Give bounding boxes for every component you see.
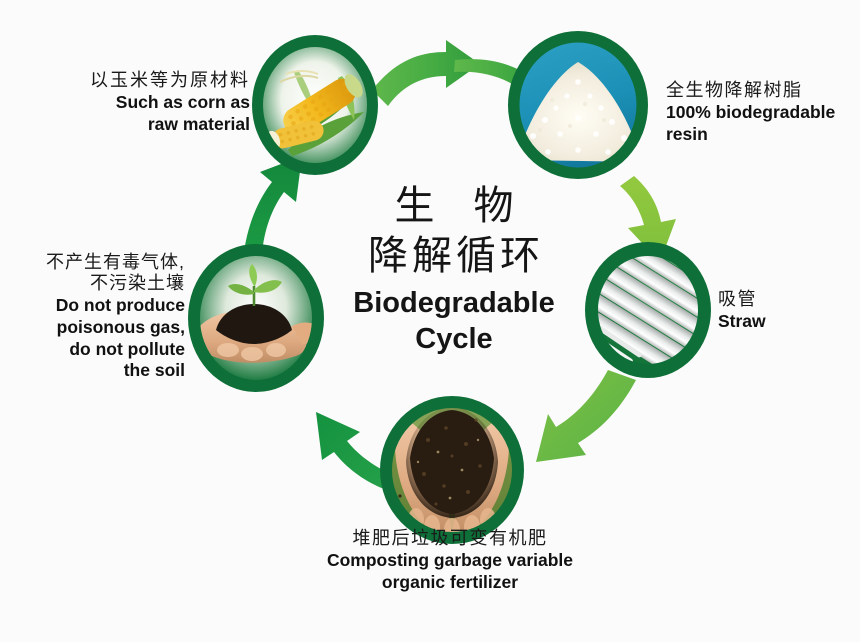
- label-compost-en-line1: Composting garbage variable: [280, 550, 620, 571]
- arrow-straw-to-compost: [536, 370, 636, 462]
- node-straw[interactable]: [576, 222, 741, 383]
- center-title: 生 物 降解循环 Biodegradable Cycle: [318, 182, 590, 357]
- label-soil-en-line2: poisonous gas,: [10, 317, 185, 338]
- label-corn: 以玉米等为原材料 Such as corn as raw material: [50, 70, 250, 135]
- title-cn-line2: 降解循环: [318, 231, 590, 281]
- node-resin[interactable]: [508, 31, 650, 180]
- label-straw: 吸管 Straw: [718, 289, 838, 332]
- node-corn[interactable]: [252, 35, 378, 175]
- label-resin-en-line1: 100% biodegradable: [666, 102, 846, 123]
- label-soil-cn-line1: 不产生有毒气体,: [10, 252, 185, 273]
- label-resin-cn: 全生物降解树脂: [666, 80, 846, 101]
- label-soil-en-line3: do not pollute: [10, 339, 185, 360]
- label-corn-cn: 以玉米等为原材料: [50, 70, 250, 91]
- label-resin-en-line2: resin: [666, 124, 846, 145]
- label-resin: 全生物降解树脂 100% biodegradable resin: [666, 80, 846, 145]
- label-straw-en-line1: Straw: [718, 311, 838, 332]
- label-straw-cn: 吸管: [718, 289, 838, 310]
- node-soil[interactable]: [188, 244, 324, 392]
- label-compost-cn: 堆肥后垃圾可变有机肥: [280, 528, 620, 549]
- label-soil-cn-line2: 不污染土壤: [10, 273, 185, 294]
- label-corn-en-line1: Such as corn as: [50, 92, 250, 113]
- title-en-line1: Biodegradable: [318, 286, 590, 321]
- label-compost: 堆肥后垃圾可变有机肥 Composting garbage variable o…: [280, 528, 620, 593]
- title-en-line2: Cycle: [318, 321, 590, 357]
- title-cn-line1: 生 物: [318, 182, 590, 231]
- label-soil: 不产生有毒气体, 不污染土壤 Do not produce poisonous …: [10, 252, 185, 381]
- node-compost[interactable]: [380, 396, 524, 544]
- label-soil-en-line4: the soil: [10, 360, 185, 381]
- label-corn-en-line2: raw material: [50, 114, 250, 135]
- label-soil-en-line1: Do not produce: [10, 295, 185, 316]
- label-compost-en-line2: organic fertilizer: [280, 572, 620, 593]
